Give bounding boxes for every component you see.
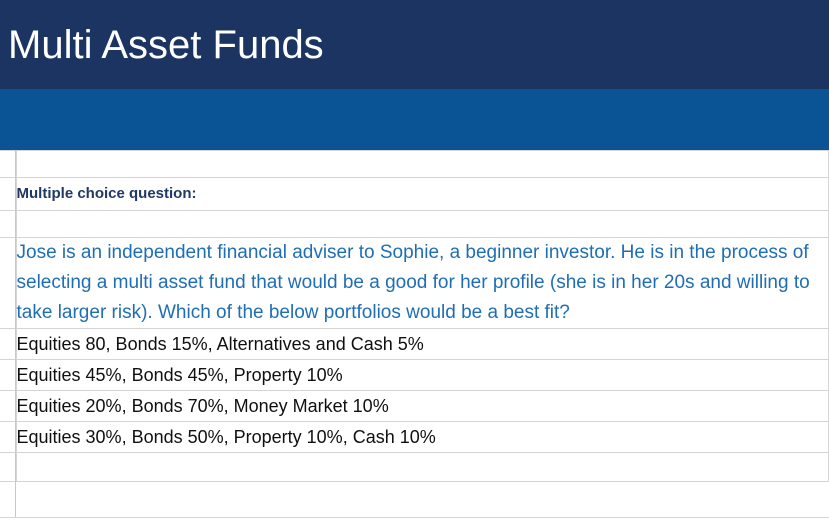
content-table: Multiple choice question: Jose is an ind…: [0, 150, 829, 482]
gutter-divider: [15, 150, 16, 518]
row-gutter: [0, 422, 16, 453]
slide-page: Multi Asset Funds Multiple choice questi…: [0, 0, 829, 523]
page-title: Multi Asset Funds: [8, 22, 324, 68]
option-label-2: Equities 45%, Bonds 45%, Property 10%: [17, 365, 343, 385]
spacer-cell: [16, 453, 829, 482]
row-gutter: [0, 178, 16, 211]
bottom-divider: [0, 517, 829, 518]
option-cell-3[interactable]: Equities 20%, Bonds 70%, Money Market 10…: [16, 391, 829, 422]
header-accent-bar: [0, 89, 829, 150]
option-label-1: Equities 80, Bonds 15%, Alternatives and…: [17, 334, 424, 354]
table-row[interactable]: Equities 45%, Bonds 45%, Property 10%: [0, 360, 829, 391]
option-label-4: Equities 30%, Bonds 50%, Property 10%, C…: [17, 427, 436, 447]
option-cell-4[interactable]: Equities 30%, Bonds 50%, Property 10%, C…: [16, 422, 829, 453]
table-row: Multiple choice question:: [0, 178, 829, 211]
row-gutter: [0, 453, 16, 482]
table-row[interactable]: Equities 20%, Bonds 70%, Money Market 10…: [0, 391, 829, 422]
row-gutter: [0, 329, 16, 360]
option-cell-1[interactable]: Equities 80, Bonds 15%, Alternatives and…: [16, 329, 829, 360]
table-row: [0, 211, 829, 238]
table-row[interactable]: Equities 30%, Bonds 50%, Property 10%, C…: [0, 422, 829, 453]
row-gutter: [0, 391, 16, 422]
table-row: [0, 151, 829, 178]
table-row: [0, 453, 829, 482]
row-gutter: [0, 360, 16, 391]
row-gutter: [0, 211, 16, 238]
table-row: Jose is an independent financial adviser…: [0, 238, 829, 329]
header-banner: Multi Asset Funds: [0, 0, 829, 89]
spacer-cell: [16, 151, 829, 178]
table-row[interactable]: Equities 80, Bonds 15%, Alternatives and…: [0, 329, 829, 360]
option-cell-2[interactable]: Equities 45%, Bonds 45%, Property 10%: [16, 360, 829, 391]
spacer-cell: [16, 211, 829, 238]
question-heading: Multiple choice question:: [17, 185, 197, 202]
option-label-3: Equities 20%, Bonds 70%, Money Market 10…: [17, 396, 389, 416]
row-gutter: [0, 238, 16, 329]
heading-cell: Multiple choice question:: [16, 178, 829, 211]
question-cell: Jose is an independent financial adviser…: [16, 238, 829, 329]
row-gutter: [0, 151, 16, 178]
question-text: Jose is an independent financial adviser…: [17, 242, 810, 323]
